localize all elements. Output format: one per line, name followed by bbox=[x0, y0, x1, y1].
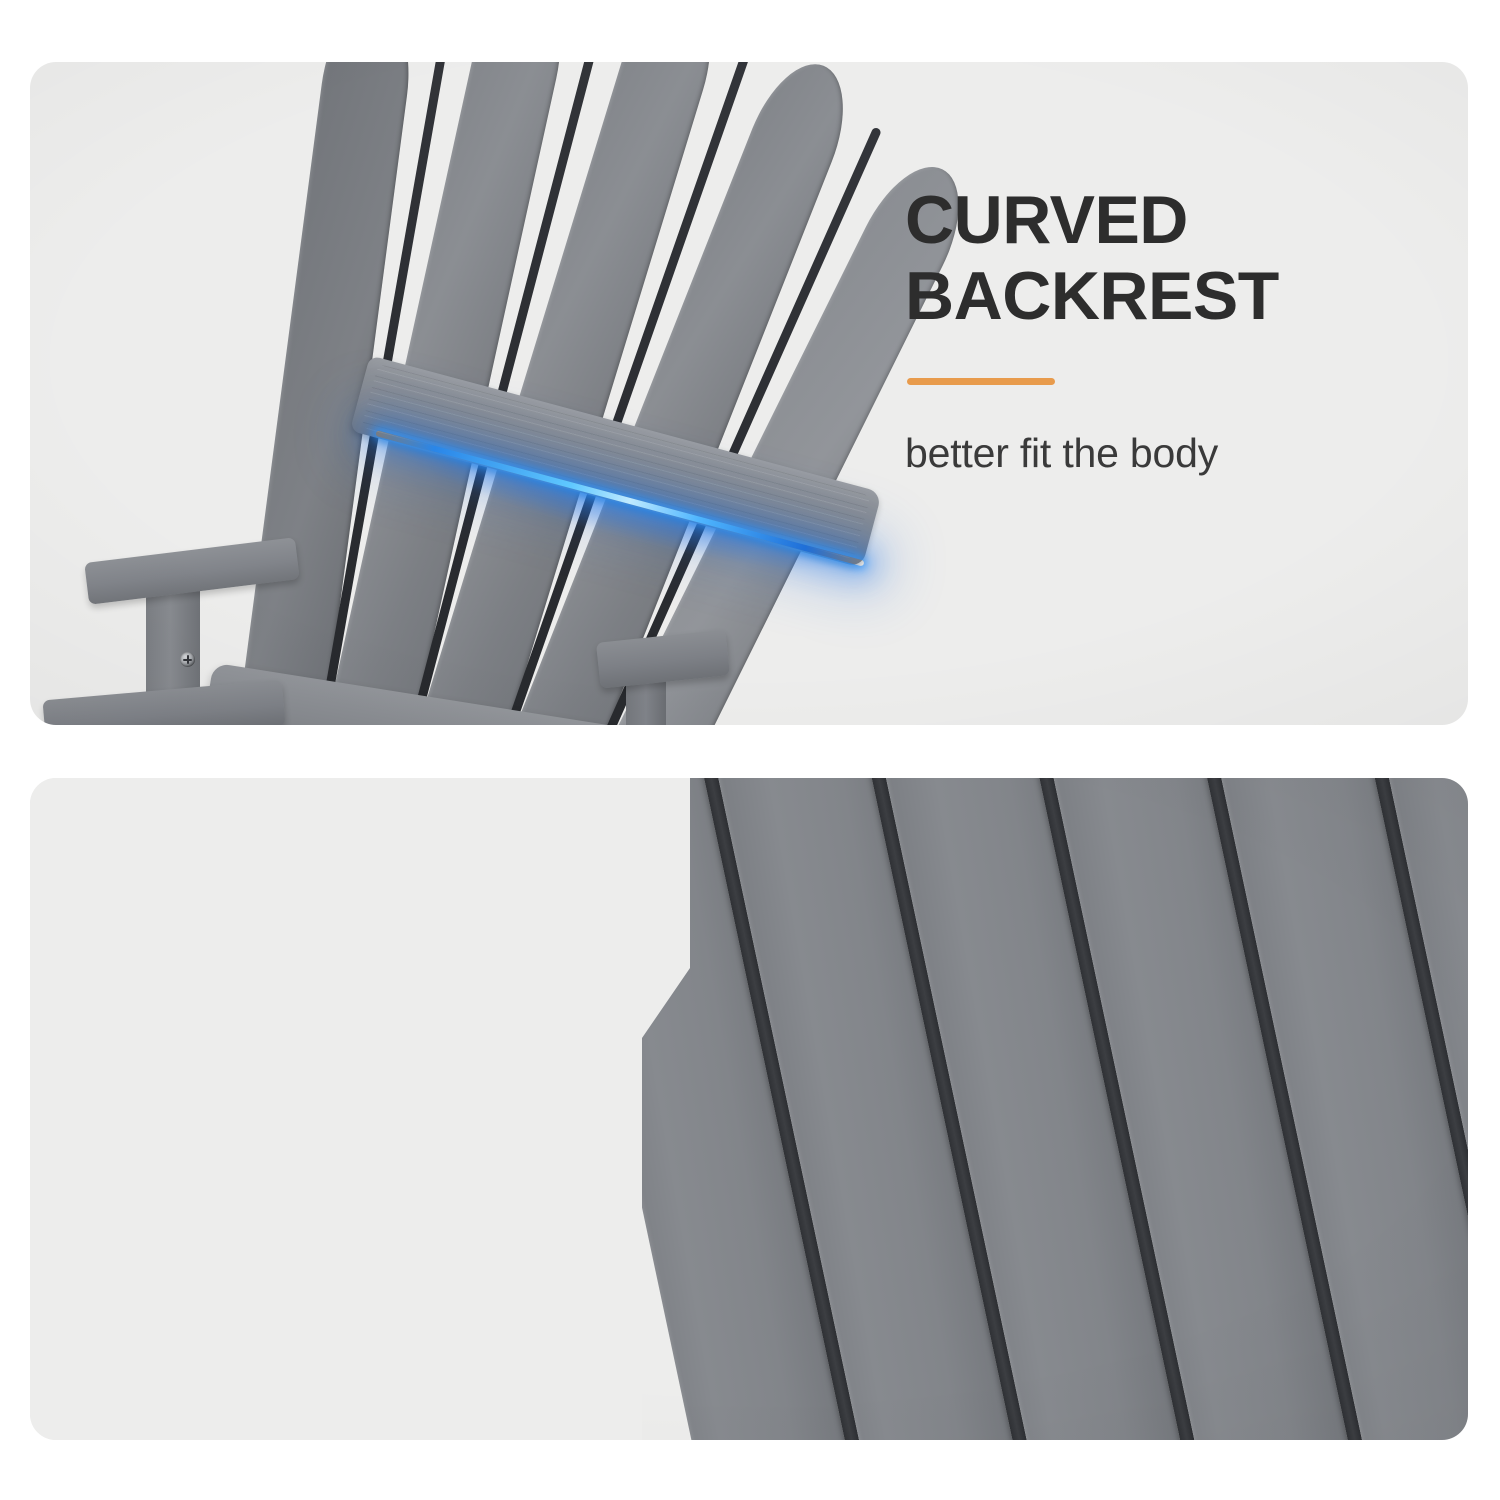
feature-subline: better fit the body bbox=[905, 429, 1425, 478]
feature-text-curved-backrest: CURVED BACKREST better fit the body bbox=[905, 182, 1425, 479]
feature-graphic: CURVED BACKREST better fit the body bbox=[0, 0, 1500, 1500]
photo-left-backdrop bbox=[30, 778, 690, 1440]
accent-divider bbox=[907, 378, 1055, 385]
feature-panel-wide-armrests bbox=[30, 778, 1468, 1440]
screw-icon bbox=[180, 652, 195, 667]
feature-headline: CURVED BACKREST bbox=[905, 182, 1425, 334]
chair-armrest-photo bbox=[30, 778, 1468, 1440]
backrest-slat-fan bbox=[236, 62, 925, 725]
